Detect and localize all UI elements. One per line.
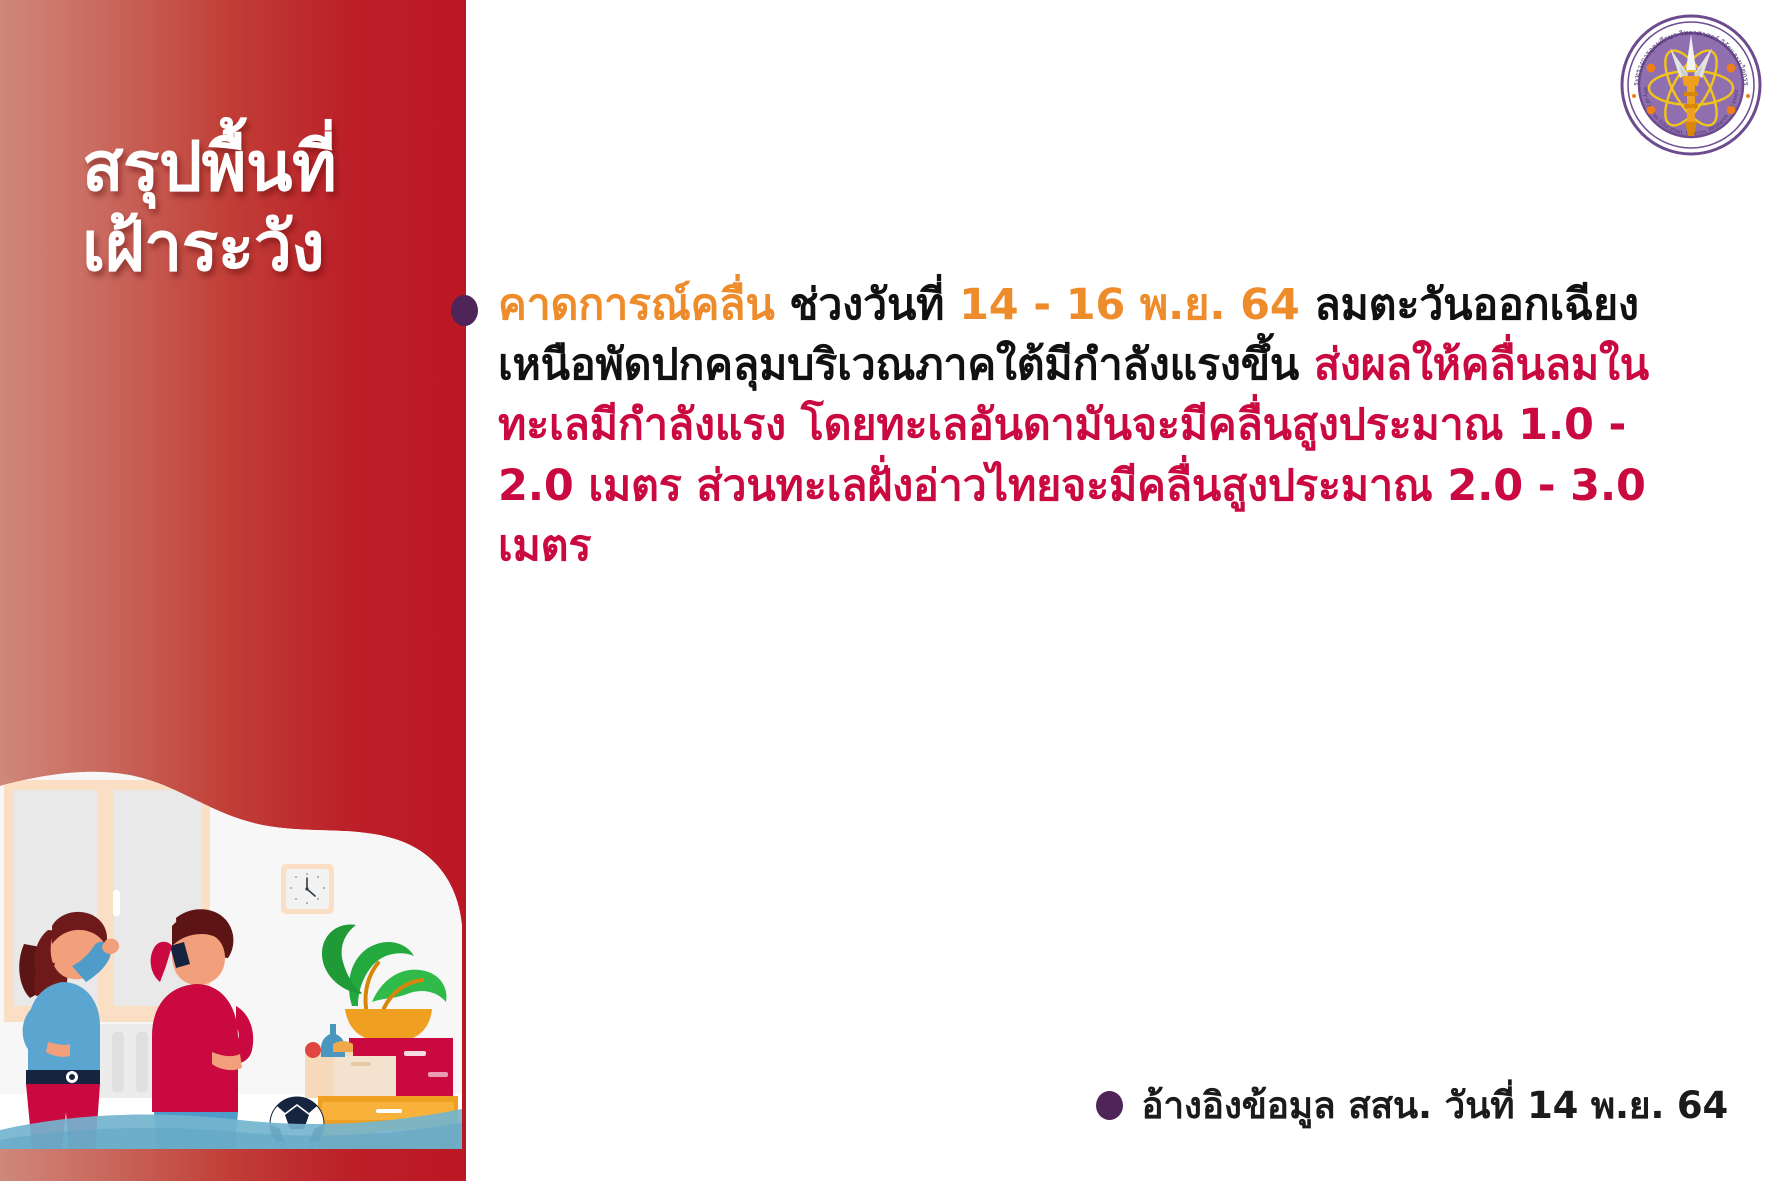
bullet-icon (451, 295, 478, 326)
wall-clock-illustration (281, 864, 334, 914)
period-label: ช่วงวันที่ (789, 280, 959, 330)
body-content: คาดการณ์คลื่น ช่วงวันที่ 14 - 16 พ.ย. 64… (498, 232, 1678, 619)
flood-illustration (0, 694, 466, 1149)
ministry-logo: กระทรวงการอุดมศึกษา วิทยาศาสตร์ วิจัยและ… (1618, 12, 1764, 158)
left-red-panel: สรุปพื้นที่ เฝ้าระวัง (0, 0, 466, 1181)
source-text: อ้างอิงข้อมูล สสน. วันที่ 14 พ.ย. 64 (1141, 1076, 1728, 1135)
source-footer: อ้างอิงข้อมูล สสน. วันที่ 14 พ.ย. 64 (1096, 1076, 1728, 1135)
footer-bullet-icon (1096, 1091, 1123, 1120)
forecast-paragraph: คาดการณ์คลื่น ช่วงวันที่ 14 - 16 พ.ย. 64… (498, 275, 1678, 576)
forecast-label: คาดการณ์คลื่น (498, 280, 789, 330)
date-range: 14 - 16 พ.ย. 64 (959, 280, 1314, 330)
page-title: สรุปพื้นที่ เฝ้าระวัง (82, 128, 462, 288)
infographic-slide: สรุปพื้นที่ เฝ้าระวัง (0, 0, 1772, 1181)
